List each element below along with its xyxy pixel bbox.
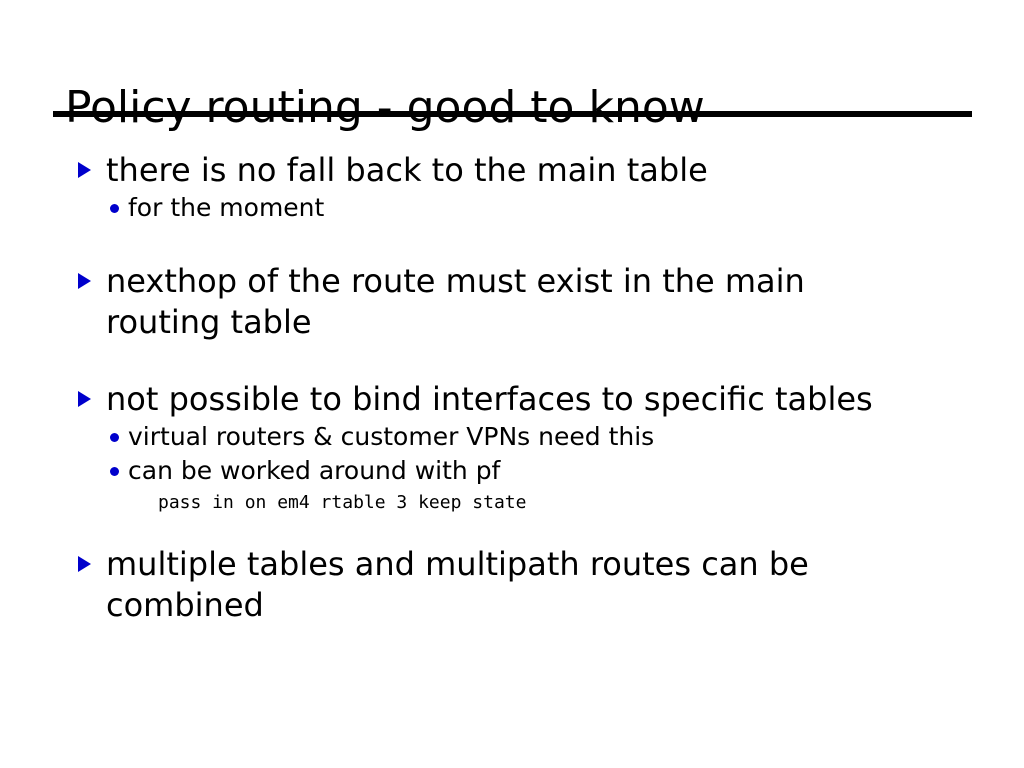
list-item: virtual routers & customer VPNs need thi…: [0, 420, 1024, 454]
list-item-label: not possible to bind interfaces to speci…: [106, 379, 896, 420]
list-item: not possible to bind interfaces to speci…: [0, 379, 1024, 420]
triangle-right-icon: [78, 162, 91, 178]
triangle-right-icon: [78, 391, 91, 407]
list-item: for the moment: [0, 191, 1024, 225]
dot-icon: [110, 204, 119, 213]
page-title: Policy routing - good to know: [65, 81, 985, 135]
slide-body: there is no fall back to the main table …: [0, 150, 1024, 626]
title-divider: [53, 111, 972, 117]
bullet-group: nexthop of the route must exist in the m…: [0, 261, 1024, 343]
bullet-group: multiple tables and multipath routes can…: [0, 544, 1024, 626]
slide: Policy routing - good to know there is n…: [0, 0, 1024, 768]
list-item-label: can be worked around with pf: [128, 454, 928, 488]
list-item-label: multiple tables and multipath routes can…: [106, 544, 896, 626]
triangle-right-icon: [78, 273, 91, 289]
spacer: [0, 225, 1024, 261]
list-item-label: nexthop of the route must exist in the m…: [106, 261, 896, 343]
list-item: multiple tables and multipath routes can…: [0, 544, 1024, 626]
list-item-label: virtual routers & customer VPNs need thi…: [128, 420, 928, 454]
list-item: nexthop of the route must exist in the m…: [0, 261, 1024, 343]
list-item-label: there is no fall back to the main table: [106, 150, 896, 191]
spacer: [0, 518, 1024, 544]
triangle-right-icon: [78, 556, 91, 572]
spacer: [0, 343, 1024, 379]
list-item-label: for the moment: [128, 191, 928, 225]
code-line: pass in on em4 rtable 3 keep state: [0, 488, 1024, 518]
list-item: there is no fall back to the main table: [0, 150, 1024, 191]
bullet-group: not possible to bind interfaces to speci…: [0, 379, 1024, 518]
dot-icon: [110, 467, 119, 476]
dot-icon: [110, 433, 119, 442]
bullet-group: there is no fall back to the main table …: [0, 150, 1024, 225]
list-item: can be worked around with pf: [0, 454, 1024, 488]
